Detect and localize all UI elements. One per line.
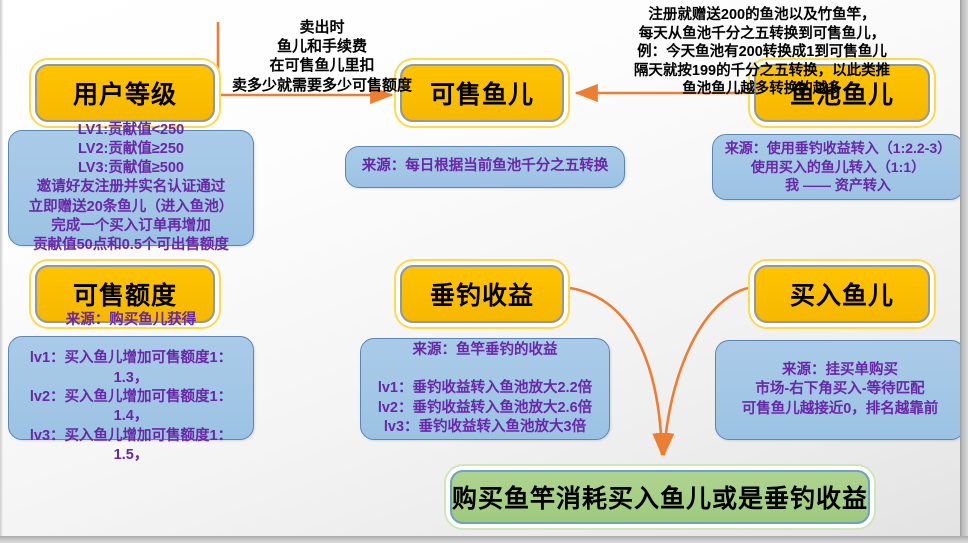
- annotation-sell-note: 卖出时 鱼儿和手续费 在可售鱼儿里扣 卖多少就需要多少可售额度: [222, 18, 422, 95]
- info-box-fishing-gain-text: 来源：鱼竿垂钓的收益 lv1：垂钓收益转入鱼池放大2.2倍 lv2：垂钓收益转入…: [361, 341, 609, 437]
- node-sellable-fish[interactable]: 可售鱼儿: [400, 64, 564, 122]
- node-sell-quota-label: 可售额度: [73, 276, 177, 312]
- info-box-sell-quota: 来源：购买鱼儿获得 lv1：买入鱼儿增加可售额度1：1.3， lv2：买入鱼儿增…: [8, 336, 254, 440]
- info-box-pond-fish-text: 来源：使用垂钓收益转入（1:2.2-3） 使用买入的鱼儿转入（1:1） 我 ——…: [713, 139, 963, 195]
- info-box-fishing-gain: 来源：鱼竿垂钓的收益 lv1：垂钓收益转入鱼池放大2.2倍 lv2：垂钓收益转入…: [360, 338, 610, 440]
- frame-edge-bottom: [0, 536, 968, 543]
- node-bought-fish[interactable]: 买入鱼儿: [754, 265, 930, 323]
- info-box-user-level: LV1:贡献值<250 LV2:贡献值≥250 LV3:贡献值≥500 邀请好友…: [8, 130, 254, 246]
- info-box-sellable-fish-text: 来源：每日根据当前鱼池千分之五转换: [346, 157, 624, 176]
- diagram-canvas: 用户等级 可售鱼儿 鱼池鱼儿 可售额度 垂钓收益 买入鱼儿 购买鱼竿消耗买入鱼儿…: [0, 0, 968, 543]
- info-box-bought-fish: 来源：挂买单购买 市场-右下角买入-等待匹配 可售鱼儿越接近0，排名越靠前: [715, 340, 965, 440]
- info-box-pond-fish: 来源：使用垂钓收益转入（1:2.2-3） 使用买入的鱼儿转入（1:1） 我 ——…: [712, 134, 964, 200]
- node-fishing-gain-label: 垂钓收益: [430, 276, 534, 312]
- info-box-bought-fish-text: 来源：挂买单购买 市场-右下角买入-等待匹配 可售鱼儿越接近0，排名越靠前: [716, 361, 964, 419]
- info-box-user-level-text: LV1:贡献值<250 LV2:贡献值≥250 LV3:贡献值≥500 邀请好友…: [9, 121, 253, 256]
- node-result[interactable]: 购买鱼竿消耗买入鱼儿或是垂钓收益: [450, 470, 870, 524]
- frame-edge-left: [0, 0, 3, 543]
- info-box-sellable-fish: 来源：每日根据当前鱼池千分之五转换: [345, 146, 625, 188]
- node-sellable-fish-label: 可售鱼儿: [430, 75, 534, 111]
- frame-edge-right: [960, 0, 968, 543]
- node-result-label: 购买鱼竿消耗买入鱼儿或是垂钓收益: [452, 479, 868, 515]
- node-user-level-label: 用户等级: [73, 75, 177, 111]
- node-user-level[interactable]: 用户等级: [35, 64, 215, 122]
- info-box-sell-quota-text: 来源：购买鱼儿获得 lv1：买入鱼儿增加可售额度1：1.3， lv2：买入鱼儿增…: [9, 311, 253, 465]
- node-bought-fish-label: 买入鱼儿: [790, 276, 894, 312]
- node-fishing-gain[interactable]: 垂钓收益: [400, 265, 564, 323]
- annotation-register-note: 注册就赠送200的鱼池以及竹鱼竿， 每天从鱼池千分之五转换到可售鱼儿， 例：今天…: [552, 6, 968, 99]
